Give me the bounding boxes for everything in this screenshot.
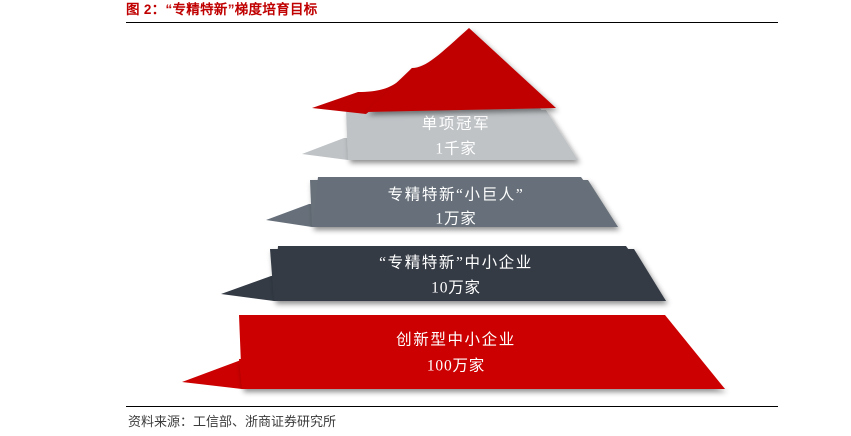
pyramid-level-4[interactable]: 创新型中小企业 100万家 [182, 315, 725, 389]
figure-source: 资料来源：工信部、浙商证券研究所 [128, 413, 336, 431]
pyramid-chart: 创新型中小企业 100万家 “专精特新”中小企业 10万家 专精特新“小巨人” … [126, 24, 778, 404]
title-divider-rule [126, 22, 778, 23]
source-divider-rule [126, 406, 778, 407]
pyramid-level-2[interactable]: 专精特新“小巨人” 1万家 [266, 177, 618, 228]
pyramid-level-4-count: 100万家 [427, 357, 485, 375]
figure-container: 图 2：“专精特新”梯度培育目标 创新型中小企业 100万家 [0, 0, 851, 436]
pyramid-level-4-label: 创新型中小企业 [396, 331, 516, 349]
pyramid-level-3-label: “专精特新”中小企业 [379, 254, 533, 272]
pyramid-level-0-apex[interactable] [312, 28, 556, 114]
figure-title: 图 2：“专精特新”梯度培育目标 [126, 1, 318, 19]
pyramid-svg: 创新型中小企业 100万家 “专精特新”中小企业 10万家 专精特新“小巨人” … [126, 24, 778, 404]
pyramid-level-2-count: 1万家 [435, 210, 476, 228]
pyramid-apex-body [366, 28, 556, 112]
pyramid-level-4-face [239, 315, 725, 389]
pyramid-level-1-label: 单项冠军 [422, 115, 490, 133]
pyramid-level-3-count: 10万家 [431, 279, 481, 297]
pyramid-level-1[interactable]: 单项冠军 1千家 [302, 108, 578, 160]
pyramid-level-3[interactable]: “专精特新”中小企业 10万家 [221, 246, 666, 301]
pyramid-level-1-count: 1千家 [435, 140, 476, 158]
pyramid-level-2-label: 专精特新“小巨人” [388, 186, 525, 204]
